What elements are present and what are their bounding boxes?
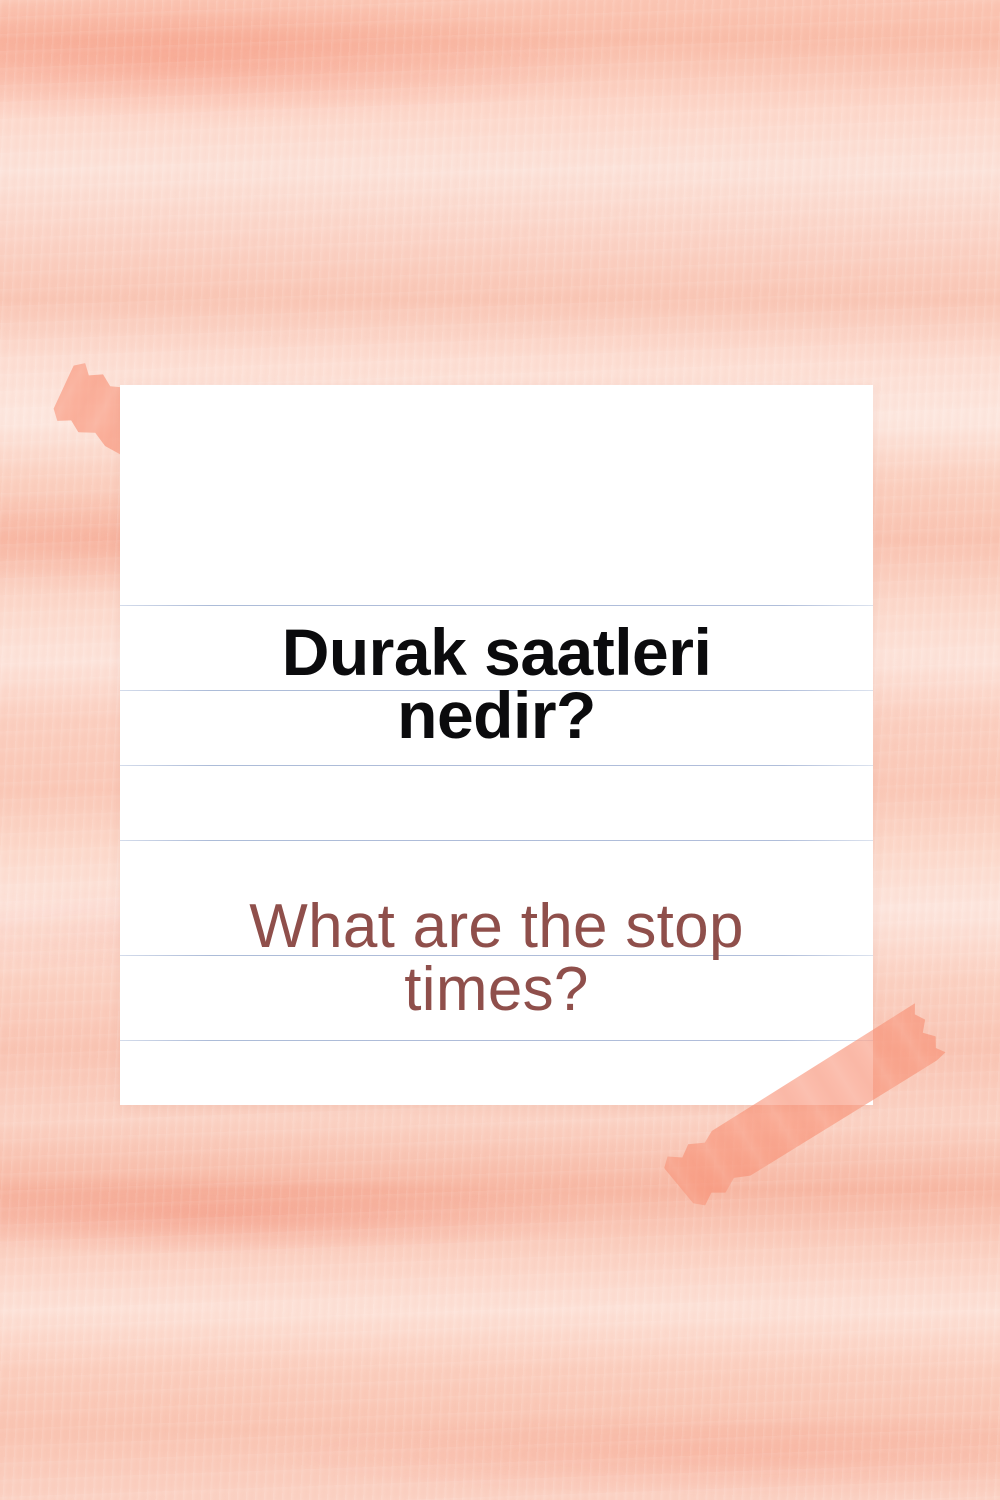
rule-line (120, 840, 873, 841)
rule-line (120, 765, 873, 766)
poster-canvas: Durak saatleri nedir? What are the stop … (0, 0, 1000, 1500)
page-title: Durak saatleri nedir? (120, 621, 873, 746)
rule-line (120, 605, 873, 606)
lined-note-card: Durak saatleri nedir? What are the stop … (120, 385, 873, 1105)
rule-line (120, 1040, 873, 1041)
page-subtitle-translation: What are the stop times? (120, 895, 873, 1021)
